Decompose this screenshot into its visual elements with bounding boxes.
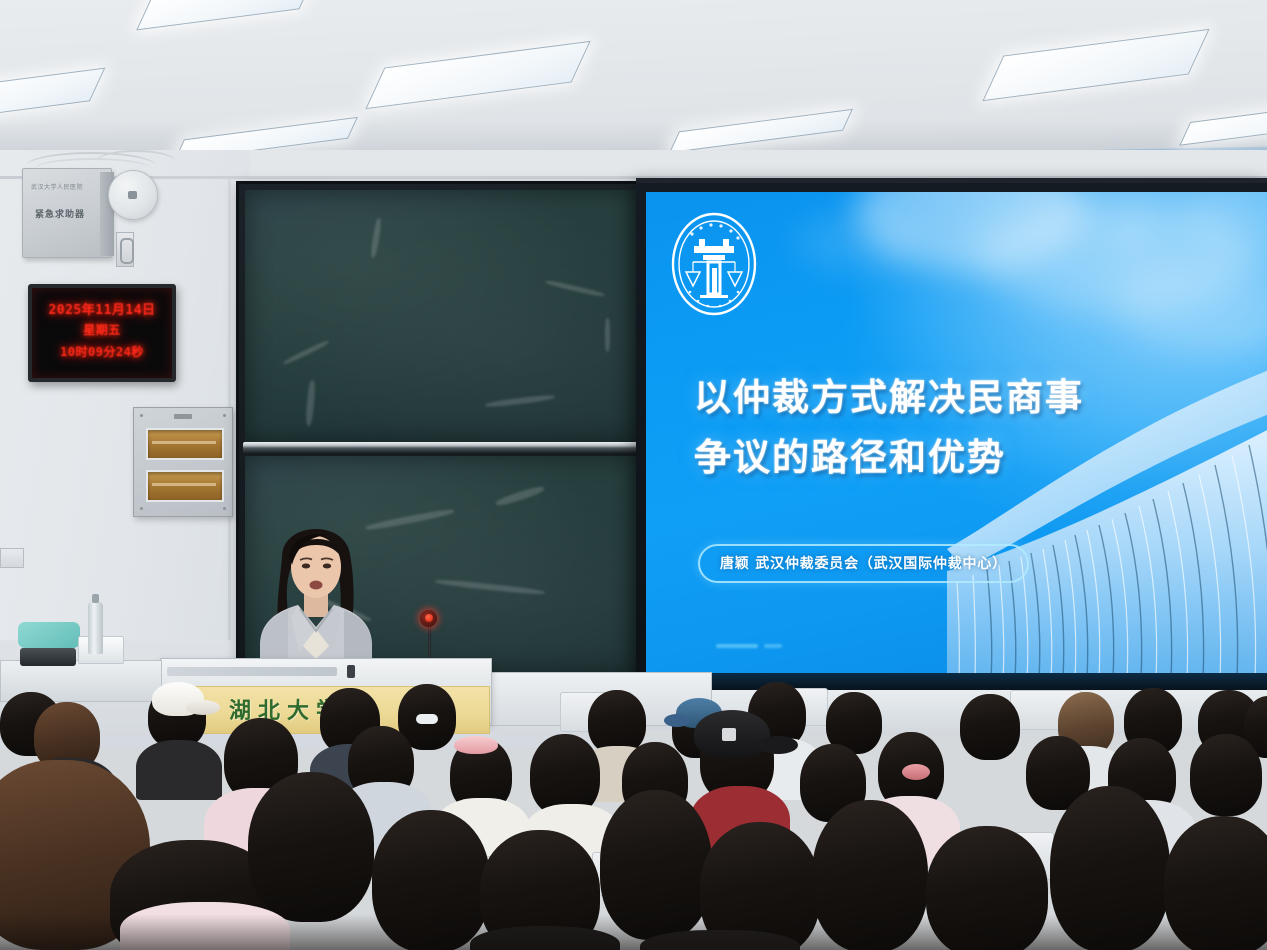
slide-title-line-2: 争议的路径和优势 <box>694 428 1124 488</box>
blackboard-upper-panel <box>245 190 638 442</box>
cap-brim <box>664 714 690 727</box>
blackboard-chalk-rail <box>243 442 640 453</box>
audience-area <box>0 640 1267 950</box>
cap-brim <box>758 736 798 754</box>
cap-logo <box>722 728 736 741</box>
audience-torso <box>136 740 222 800</box>
arbitration-commission-logo <box>670 210 758 318</box>
panel-screw <box>223 414 226 417</box>
presentation-slide[interactable]: 以仲裁方式解决民商事 争议的路径和优势 唐颖 武汉仲裁委员会（武汉国际仲裁中心） <box>646 192 1267 673</box>
lecture-hall-photo: 武汉大学人民医院 紧急求助器 2025年11月14日 星期五 10时09分24秒 <box>0 0 1267 950</box>
microphone-head[interactable] <box>420 610 437 627</box>
hair-bow <box>454 736 498 754</box>
projection-screen-bezel: 以仲裁方式解决民商事 争议的路径和优势 唐颖 武汉仲裁委员会（武汉国际仲裁中心） <box>636 178 1267 703</box>
audience-head <box>1190 734 1262 816</box>
audience-head <box>588 690 646 754</box>
hair-tie <box>416 714 438 724</box>
led-clock-weekday: 星期五 <box>32 321 172 338</box>
led-clock-display: 2025年11月14日 星期五 10时09分24秒 <box>28 284 176 382</box>
panel-screw <box>140 414 143 417</box>
audience-head <box>960 694 1020 760</box>
slide-title: 以仲裁方式解决民商事 争议的路径和优势 <box>694 368 1124 488</box>
panel-slot <box>146 428 224 460</box>
cap-brim <box>186 700 220 715</box>
panel-screw <box>140 507 143 510</box>
slide-subtitle: 唐颖 武汉仲裁委员会（武汉国际仲裁中心） <box>698 544 1029 583</box>
wall-shelf <box>0 548 24 568</box>
led-clock-time: 10时09分24秒 <box>32 343 172 360</box>
led-clock-date: 2025年11月14日 <box>32 299 172 318</box>
foreground-shadow <box>0 914 1267 950</box>
emergency-call-box[interactable]: 武汉大学人民医院 紧急求助器 <box>22 168 112 258</box>
av-wall-panel[interactable] <box>133 407 233 517</box>
slide-title-line-1: 以仲裁方式解决民商事 <box>694 368 1124 428</box>
ceiling-sensor-icon <box>108 170 158 220</box>
panel-slot <box>146 470 224 502</box>
panel-latch <box>174 414 192 419</box>
wall-jack-plate[interactable] <box>116 232 134 267</box>
audience-head <box>248 772 374 922</box>
wall-box-line2: 紧急求助器 <box>35 207 85 220</box>
panel-screw <box>223 507 226 510</box>
hair-bow <box>902 764 930 780</box>
wall-box-line1: 武汉大学人民医院 <box>31 182 83 191</box>
